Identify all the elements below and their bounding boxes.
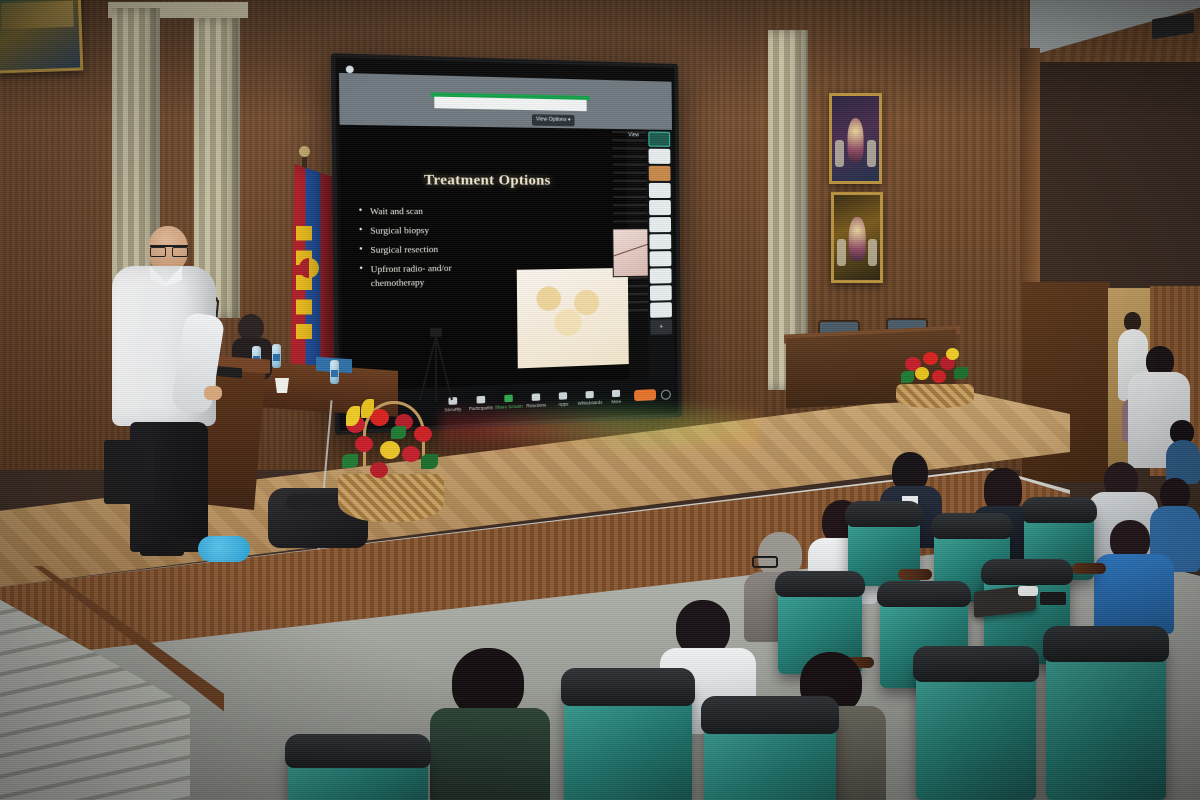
participant-thumbnail[interactable] (649, 166, 671, 181)
earbuds-case (1018, 586, 1038, 596)
framed-thangka-upper (829, 93, 882, 184)
participant-thumbnail[interactable] (650, 302, 672, 318)
participant-thumbnail[interactable] (649, 183, 671, 198)
participant-thumbnail[interactable] (650, 268, 672, 283)
painting-side-element (868, 239, 877, 266)
participant-thumbnail[interactable] (649, 234, 671, 249)
camera-tripod (418, 328, 454, 400)
stage-light-reflections (440, 398, 760, 458)
chevron-down-icon: ▾ (568, 117, 571, 123)
foliage (391, 426, 406, 439)
auditorium-seat[interactable] (704, 706, 836, 800)
participant-thumbnail[interactable] (648, 132, 670, 147)
more-ellipsis-icon (612, 389, 620, 396)
audience-person (430, 648, 550, 800)
basket-weave (896, 384, 974, 408)
eyeglasses-icon (150, 245, 188, 255)
zoom-top-bar: View Options ▾ View Apps (339, 73, 672, 130)
filmstrip-glow (612, 129, 648, 312)
auditorium-seat[interactable] (916, 656, 1036, 800)
painting-figure (849, 217, 866, 261)
plus-icon[interactable]: + (650, 319, 672, 335)
slide-bullet: Surgical resection (359, 242, 491, 257)
shared-content-highlight (434, 97, 587, 112)
foliage (421, 454, 438, 469)
red-rose (923, 352, 938, 365)
auditorium-seat[interactable] (564, 678, 692, 800)
presenter-shoe (164, 538, 202, 550)
water-bottle (330, 360, 339, 384)
flower-basket (338, 396, 444, 522)
red-rose (402, 446, 420, 462)
foliage (342, 454, 358, 468)
painting-side-element (867, 140, 876, 167)
yellow-lily (915, 367, 929, 380)
yellow-lily (946, 348, 959, 360)
tripod-leg (435, 336, 453, 400)
water-bottle (272, 344, 281, 368)
paper-cup (275, 378, 289, 393)
view-options-label: View Options (536, 116, 567, 123)
painting-side-element (835, 140, 844, 167)
seat-headrest (1021, 497, 1097, 523)
loudspeaker (104, 440, 154, 504)
participant-thumbnail[interactable] (650, 285, 672, 301)
seated-attendee (1166, 420, 1200, 480)
eyeglasses-icon (752, 556, 778, 568)
backpack-strap (286, 494, 344, 510)
seat-headrest (775, 571, 865, 597)
person-body (430, 708, 550, 800)
slide-bullet: Surgical biopsy (359, 223, 491, 238)
foliage (901, 371, 914, 383)
red-rose (414, 426, 432, 442)
audience-person (1094, 520, 1174, 630)
auditorium-seat[interactable] (1046, 636, 1166, 800)
person-body (1094, 554, 1174, 634)
painting-side-element (837, 239, 846, 266)
shared-slide: Treatment Options Wait and scan Surgical… (340, 125, 629, 392)
framed-painting-top-left (0, 0, 83, 74)
painting-figure (847, 118, 864, 162)
seat-headrest (845, 501, 923, 527)
blue-cloth (198, 536, 250, 562)
participant-thumbnail[interactable] (649, 200, 671, 215)
seat-headrest (561, 668, 695, 706)
seat-headrest (1043, 626, 1169, 662)
participant-filmstrip[interactable]: + (646, 129, 674, 378)
red-rose (932, 370, 946, 383)
red-rose (370, 462, 388, 478)
screenshot-root: View Options ▾ View Apps Treatment Optio… (0, 0, 1200, 800)
slide-bullet: Upfront radio- and/or chemotherapy (359, 261, 491, 291)
participant-thumbnail[interactable] (649, 149, 671, 164)
flagpole-finial (299, 146, 310, 157)
slide-title: Treatment Options (340, 172, 627, 190)
view-options-dropdown[interactable]: View Options ▾ (532, 114, 575, 126)
seat-headrest (931, 513, 1013, 539)
tripod-leg (419, 336, 437, 400)
presenter-hand (204, 386, 222, 400)
histopathology-micrograph (517, 268, 629, 369)
basket-weave (338, 474, 444, 522)
seat-headrest (913, 646, 1039, 682)
seat-headrest (701, 696, 839, 734)
participant-thumbnail[interactable] (649, 217, 671, 232)
seat-armrest (898, 569, 932, 580)
seat-headrest (877, 581, 971, 607)
auditorium-seat[interactable] (288, 744, 428, 800)
presenter (112, 226, 218, 556)
soyombo-yinyang (299, 258, 319, 278)
flower-basket (896, 346, 974, 408)
seat-headrest (981, 559, 1073, 585)
framed-thangka-lower (831, 192, 883, 283)
whiteboard-icon (586, 390, 594, 398)
foliage (954, 367, 968, 379)
participant-thumbnail[interactable] (650, 251, 672, 266)
seat-armrest (1072, 563, 1106, 574)
slide-bullet-list: Wait and scan Surgical biopsy Surgical r… (359, 204, 492, 290)
tripod-leg (435, 336, 437, 402)
seat-headrest (285, 734, 431, 768)
smartphone[interactable] (1040, 592, 1066, 605)
slide-bullet: Wait and scan (359, 204, 491, 218)
